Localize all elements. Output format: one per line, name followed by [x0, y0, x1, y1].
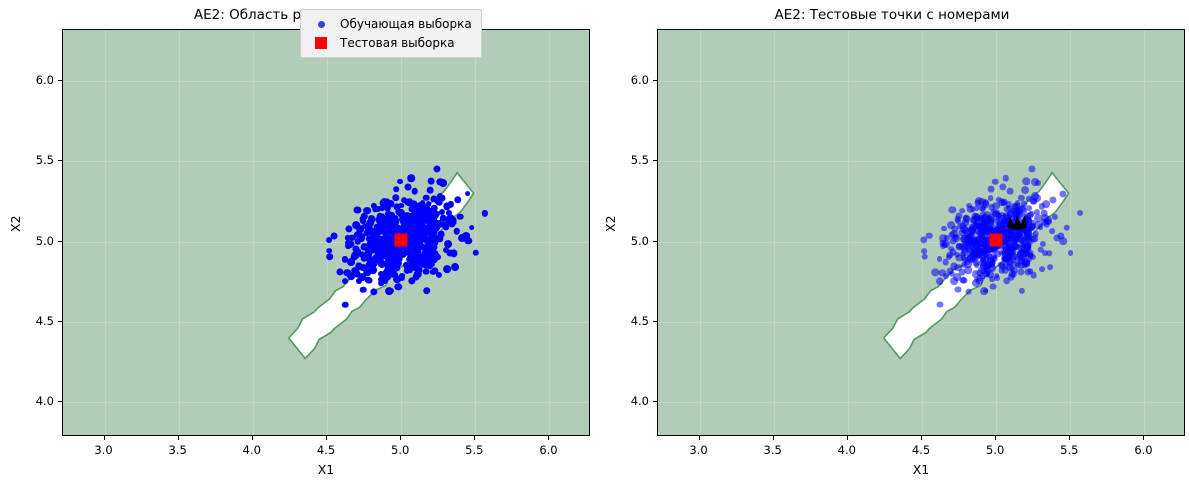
scatter-point	[422, 211, 428, 217]
scatter-point	[373, 206, 379, 212]
x-tick-mark	[1069, 436, 1070, 440]
scatter-point	[394, 186, 400, 192]
scatter-point	[937, 256, 943, 262]
scatter-point	[960, 225, 968, 233]
legend-label-train: Обучающая выборка	[334, 15, 472, 34]
scatter-point	[937, 301, 944, 308]
scatter-point	[400, 212, 406, 218]
scatter-point	[998, 261, 1005, 268]
y-tick-label: 5.5	[609, 153, 649, 167]
y-tick-mark	[653, 241, 657, 242]
scatter-point	[941, 226, 947, 232]
x-tick-label: 5.5	[465, 443, 483, 457]
scatter-point	[393, 215, 399, 221]
x-tick-label: 6.0	[1134, 443, 1152, 457]
scatter-point	[357, 233, 365, 241]
x-tick-mark	[699, 436, 700, 440]
scatter-point	[411, 188, 418, 195]
panel-right: AE2: Тестовые точки с номерами 3.03.54.0…	[595, 0, 1189, 490]
scatter-point	[955, 286, 962, 293]
scatter-point	[1006, 188, 1013, 195]
scatter-point	[439, 179, 447, 187]
x-tick-label: 3.0	[94, 443, 112, 457]
scatter-point	[457, 213, 464, 220]
scatter-point	[982, 226, 989, 233]
x-tick-label: 5.0	[391, 443, 409, 457]
x-tick-label: 4.0	[243, 443, 261, 457]
scatter-point	[429, 215, 437, 223]
scatter-point	[968, 226, 976, 234]
x-tick-label: 5.5	[1060, 443, 1078, 457]
x-tick-mark	[252, 436, 253, 440]
scatter-point	[1047, 264, 1053, 270]
scatter-point	[967, 206, 974, 213]
scatter-point	[360, 286, 367, 293]
scatter-point	[969, 239, 976, 246]
scatter-point	[965, 288, 972, 295]
scatter-point	[1040, 266, 1046, 272]
legend-entry-test: Тестовая выборка	[308, 34, 472, 53]
x-tick-label: 5.0	[986, 443, 1004, 457]
x-tick-mark	[921, 436, 922, 440]
panel-left: AE2: Область распознавания 3.03.54.04.55…	[0, 0, 594, 490]
scatter-point	[326, 253, 334, 261]
scatter-point	[990, 283, 997, 290]
scatter-point	[408, 227, 415, 234]
x-tick-label: 3.0	[689, 443, 707, 457]
legend-label-test: Тестовая выборка	[334, 34, 455, 53]
scatter-point	[954, 216, 961, 223]
x-tick-label: 6.0	[539, 443, 557, 457]
x-tick-mark	[326, 436, 327, 440]
scatter-point	[444, 265, 452, 273]
scatter-point	[1068, 250, 1074, 256]
region-contour-svg	[63, 30, 590, 436]
scatter-point	[431, 195, 438, 202]
scatter-point	[994, 273, 1000, 279]
scatter-point	[1003, 256, 1010, 263]
y-tick-mark	[58, 160, 62, 161]
x-tick-mark	[1143, 436, 1144, 440]
scatter-point	[1011, 203, 1018, 210]
scatter-point	[367, 256, 374, 263]
plot-area-right[interactable]	[657, 29, 1185, 436]
scatter-point	[986, 256, 993, 263]
scatter-point	[426, 187, 433, 194]
x-tick-mark	[104, 436, 105, 440]
y-tick-label: 5.0	[14, 234, 54, 248]
scatter-point	[410, 249, 416, 255]
test-point-marker-left[interactable]	[395, 233, 408, 246]
plot-area-left[interactable]	[62, 29, 590, 436]
legend-entry-train: Обучающая выборка	[308, 15, 472, 34]
y-tick-label: 4.5	[14, 314, 54, 328]
scatter-point	[397, 179, 403, 185]
scatter-point	[354, 207, 361, 214]
scatter-point	[414, 233, 421, 240]
scatter-point	[418, 223, 426, 231]
scatter-point	[416, 202, 424, 210]
annotation-glyph	[1005, 213, 1029, 233]
scatter-point	[972, 279, 980, 287]
scatter-point	[942, 259, 949, 266]
scatter-point	[438, 231, 445, 238]
scatter-point	[958, 244, 965, 251]
x-axis-label-right: X1	[657, 462, 1185, 477]
scatter-point	[1004, 248, 1012, 256]
scatter-point	[983, 268, 990, 275]
scatter-point	[389, 268, 395, 274]
scatter-point	[408, 256, 415, 263]
scatter-point	[921, 253, 928, 260]
scatter-point	[982, 251, 988, 257]
y-tick-label: 5.5	[14, 153, 54, 167]
scatter-point	[428, 178, 435, 185]
x-tick-label: 3.5	[169, 443, 187, 457]
y-tick-mark	[58, 401, 62, 402]
scatter-point	[1063, 225, 1070, 232]
scatter-point	[385, 288, 393, 296]
region-contour-svg	[658, 30, 1185, 436]
scatter-point	[1046, 251, 1052, 257]
scatter-point	[411, 263, 419, 271]
y-tick-mark	[58, 241, 62, 242]
y-tick-label: 6.0	[14, 73, 54, 87]
scatter-point	[462, 232, 470, 240]
x-tick-mark	[773, 436, 774, 440]
y-tick-mark	[653, 160, 657, 161]
x-tick-mark	[400, 436, 401, 440]
scatter-point	[430, 231, 436, 237]
test-point-marker-right[interactable]	[990, 233, 1003, 246]
x-tick-mark	[995, 436, 996, 440]
scatter-point	[450, 219, 457, 226]
scatter-point	[359, 216, 366, 223]
scatter-point	[469, 225, 475, 231]
y-tick-mark	[653, 401, 657, 402]
scatter-point	[1049, 229, 1055, 235]
scatter-point	[980, 288, 988, 296]
x-tick-mark	[548, 436, 549, 440]
scatter-point	[406, 200, 412, 206]
x-axis-label-left: X1	[62, 462, 590, 477]
scatter-point	[995, 212, 1001, 218]
x-tick-label: 4.5	[317, 443, 335, 457]
x-tick-mark	[847, 436, 848, 440]
scatter-point	[366, 219, 374, 227]
scatter-point	[939, 234, 947, 242]
y-tick-mark	[58, 80, 62, 81]
scatter-point	[344, 269, 352, 277]
scatter-point	[989, 277, 995, 283]
y-tick-mark	[653, 80, 657, 81]
x-tick-label: 4.0	[838, 443, 856, 457]
scatter-point	[992, 202, 1000, 210]
scatter-point	[439, 209, 445, 215]
scatter-point	[973, 260, 980, 267]
scatter-point	[366, 277, 373, 284]
scatter-point	[1026, 205, 1032, 211]
scatter-point	[1027, 268, 1033, 274]
scatter-point	[342, 278, 348, 284]
scatter-point	[992, 178, 999, 185]
scatter-point	[407, 175, 415, 183]
scatter-point	[387, 215, 393, 221]
scatter-point	[465, 191, 471, 197]
panel-title-left: AE2: Область распознавания	[0, 7, 594, 23]
y-tick-mark	[653, 321, 657, 322]
scatter-point	[374, 239, 381, 246]
scatter-point	[1034, 215, 1042, 223]
scatter-point	[454, 228, 461, 235]
y-tick-label: 4.0	[14, 394, 54, 408]
x-tick-mark	[178, 436, 179, 440]
scatter-point	[391, 256, 399, 264]
scatter-point	[347, 258, 355, 266]
x-tick-label: 3.5	[764, 443, 782, 457]
scatter-point	[972, 255, 978, 261]
panel-title-right: AE2: Тестовые точки с номерами	[595, 7, 1189, 23]
scatter-point	[451, 263, 459, 271]
scatter-point	[959, 269, 966, 276]
scatter-point	[426, 224, 434, 232]
scatter-point	[326, 237, 332, 243]
scatter-point	[1077, 210, 1083, 216]
scatter-point	[422, 257, 430, 265]
figure-canvas: AE2: Область распознавания 3.03.54.04.55…	[0, 0, 1189, 490]
y-axis-label-left: X2	[8, 215, 23, 232]
scatter-point	[987, 214, 995, 222]
scatter-point	[988, 186, 995, 193]
scatter-point	[352, 221, 360, 229]
y-tick-label: 4.0	[609, 394, 649, 408]
y-tick-label: 6.0	[609, 73, 649, 87]
decision-region-left	[63, 30, 589, 435]
y-axis-label-right: X2	[603, 215, 618, 232]
x-tick-label: 4.5	[912, 443, 930, 457]
test-point-number-annotation	[1005, 213, 1029, 237]
circle-marker-icon	[308, 21, 334, 28]
y-tick-label: 5.0	[609, 234, 649, 248]
scatter-point	[947, 221, 955, 229]
legend-box: Обучающая выборка Тестовая выборка	[300, 9, 482, 58]
x-tick-mark	[474, 436, 475, 440]
y-tick-mark	[58, 321, 62, 322]
decision-region-right	[658, 30, 1184, 435]
scatter-point	[1021, 186, 1029, 194]
scatter-point	[961, 277, 968, 284]
y-tick-label: 4.5	[609, 314, 649, 328]
scatter-point	[443, 247, 449, 253]
scatter-point	[962, 256, 969, 263]
scatter-point	[398, 203, 404, 209]
scatter-point	[423, 268, 430, 275]
scatter-point	[378, 281, 384, 287]
scatter-point	[936, 278, 944, 286]
square-marker-icon	[308, 37, 334, 49]
scatter-point	[361, 255, 368, 262]
